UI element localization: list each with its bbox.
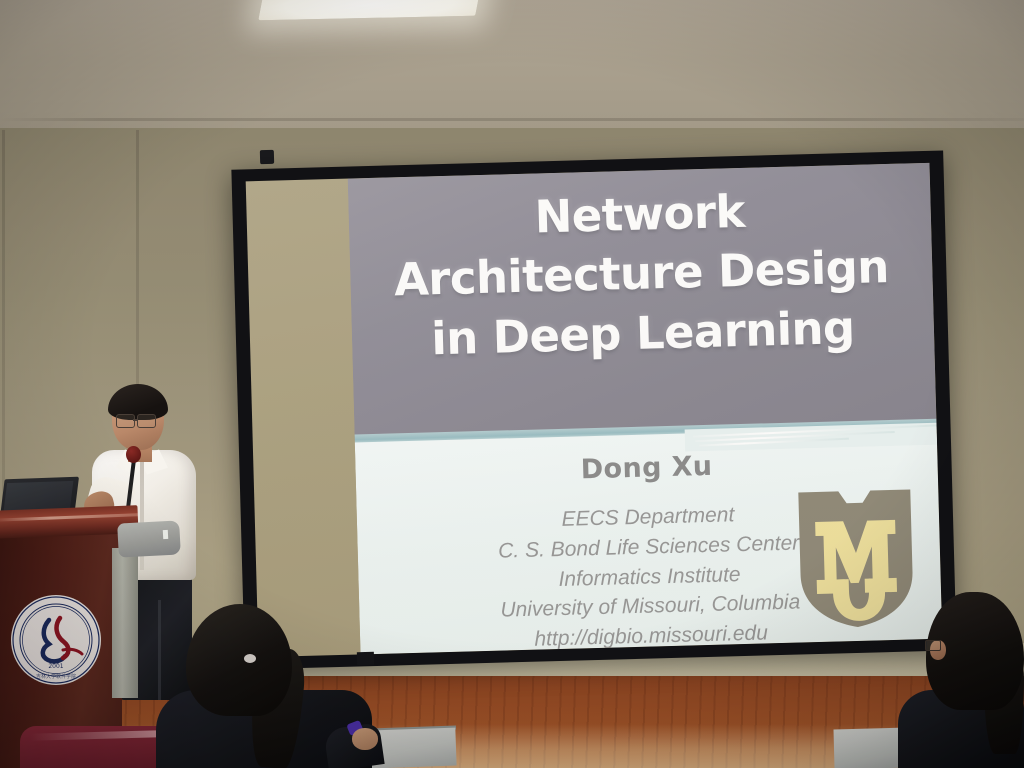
- audience-member-left-hand: [352, 728, 378, 750]
- projection-screen-surface: Network Architecture Design in Deep Lear…: [246, 163, 943, 657]
- eyeglasses-lens-left: [116, 414, 135, 428]
- svg-text:吉林大学软件学院: 吉林大学软件学院: [36, 673, 76, 680]
- eyeglasses-lens-right: [137, 414, 156, 428]
- av-control-box[interactable]: [117, 520, 181, 557]
- jilin-university-software-college-emblem: 2001 吉林大学软件学院: [8, 592, 104, 688]
- projected-slide: Network Architecture Design in Deep Lear…: [348, 163, 943, 655]
- screen-mount-bracket: [260, 150, 274, 164]
- emblem-year: 2001: [48, 663, 63, 670]
- av-control-box-indicator: [163, 530, 168, 539]
- lecture-hall-photo: Network Architecture Design in Deep Lear…: [0, 0, 1024, 768]
- hair-tie: [244, 654, 256, 663]
- eyeglasses-bridge: [133, 419, 138, 421]
- audience-member-left-head: [186, 604, 292, 716]
- projection-screen-frame: Network Architecture Design in Deep Lear…: [231, 150, 956, 669]
- slide-title: Network Architecture Design in Deep Lear…: [348, 177, 935, 371]
- microphone-head[interactable]: [126, 446, 141, 463]
- av-equipment-stand: [112, 548, 138, 698]
- ceiling-wall-seam: [0, 118, 1024, 121]
- speaker-trouser-seam: [158, 600, 161, 700]
- mu-shield-logo: [790, 485, 922, 630]
- audience-member-right-glasses: [925, 640, 941, 651]
- screen-bottom-weight-tab: [357, 652, 374, 665]
- ceiling: [0, 0, 1024, 132]
